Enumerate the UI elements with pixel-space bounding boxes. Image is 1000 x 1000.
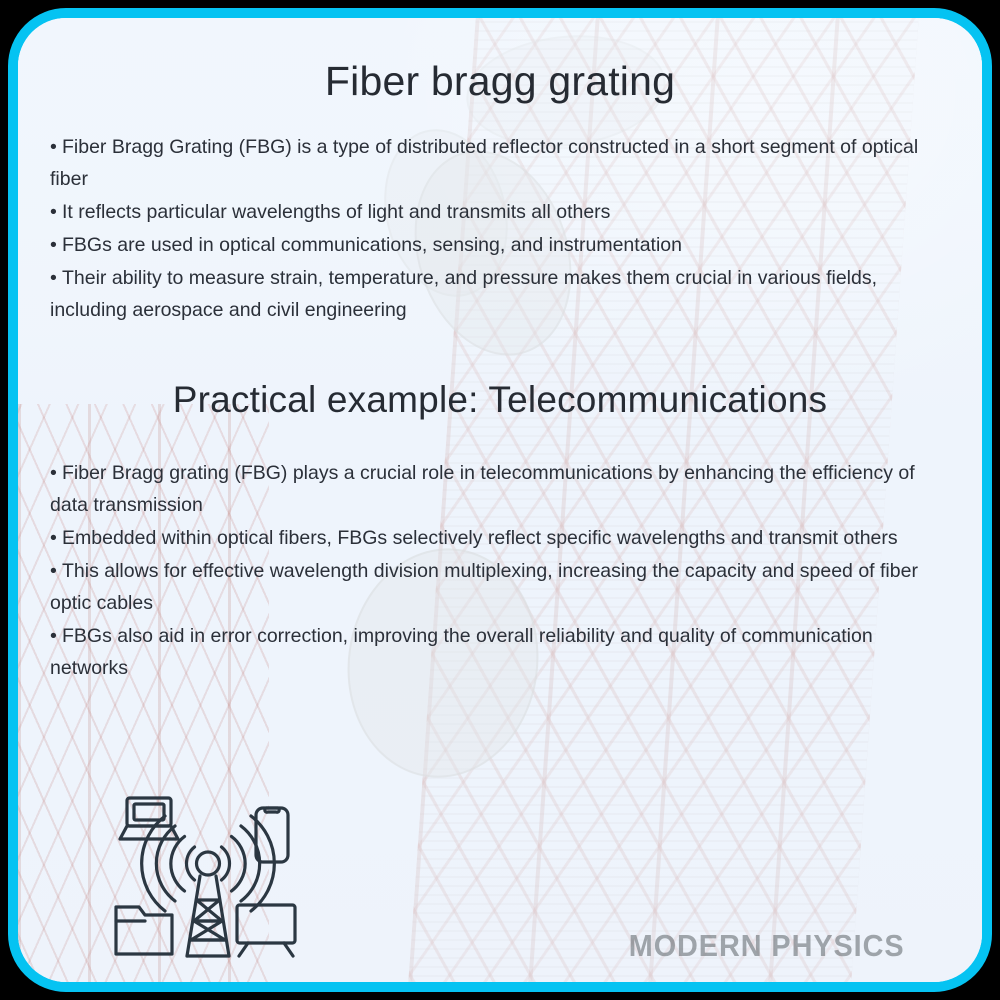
bullet-marker-icon: •	[50, 522, 62, 554]
list-item: •FBGs are used in optical communications…	[50, 229, 938, 261]
slide-root: Fiber bragg grating •Fiber Bragg Grating…	[0, 0, 1000, 1000]
telecom-tower-icon	[110, 790, 306, 962]
list-item-text: Embedded within optical fibers, FBGs sel…	[62, 527, 898, 549]
page-title: Fiber bragg grating	[18, 18, 982, 105]
list-item: •Their ability to measure strain, temper…	[50, 262, 938, 326]
slide-content: Fiber bragg grating •Fiber Bragg Grating…	[18, 18, 982, 982]
broadcast-tower-icon	[187, 876, 229, 956]
watermark-modern-physics: MODERN PHYSICS	[628, 928, 904, 964]
slide-frame: Fiber bragg grating •Fiber Bragg Grating…	[8, 8, 992, 992]
bullet-marker-icon: •	[50, 131, 62, 163]
list-item: •Embedded within optical fibers, FBGs se…	[50, 522, 938, 554]
bullet-marker-icon: •	[50, 229, 62, 261]
list-item-text: FBGs are used in optical communications,…	[62, 234, 682, 256]
list-item-text: This allows for effective wavelength div…	[50, 560, 918, 614]
bullet-marker-icon: •	[50, 620, 62, 652]
folder-icon	[116, 907, 172, 954]
television-icon	[237, 905, 295, 956]
list-item-text: Fiber Bragg grating (FBG) plays a crucia…	[50, 462, 915, 516]
list-item: •Fiber Bragg Grating (FBG) is a type of …	[50, 131, 938, 195]
list-item-text: Their ability to measure strain, tempera…	[50, 267, 877, 321]
bullet-list-telecommunications: •Fiber Bragg grating (FBG) plays a cruci…	[18, 421, 982, 684]
bullet-marker-icon: •	[50, 457, 62, 489]
list-item: •Fiber Bragg grating (FBG) plays a cruci…	[50, 457, 938, 521]
bullet-marker-icon: •	[50, 555, 62, 587]
list-item: •This allows for effective wavelength di…	[50, 555, 938, 619]
list-item-text: It reflects particular wavelengths of li…	[62, 201, 610, 223]
tower-emitter-icon	[197, 852, 220, 875]
list-item-text: FBGs also aid in error correction, impro…	[50, 625, 873, 679]
list-item: •It reflects particular wavelengths of l…	[50, 196, 938, 228]
bullet-marker-icon: •	[50, 262, 62, 294]
list-item-text: Fiber Bragg Grating (FBG) is a type of d…	[50, 136, 918, 190]
bullet-list-overview: •Fiber Bragg Grating (FBG) is a type of …	[18, 105, 982, 326]
list-item: •FBGs also aid in error correction, impr…	[50, 620, 938, 684]
section-heading-practical-example: Practical example: Telecommunications	[18, 327, 982, 421]
bullet-marker-icon: •	[50, 196, 62, 228]
